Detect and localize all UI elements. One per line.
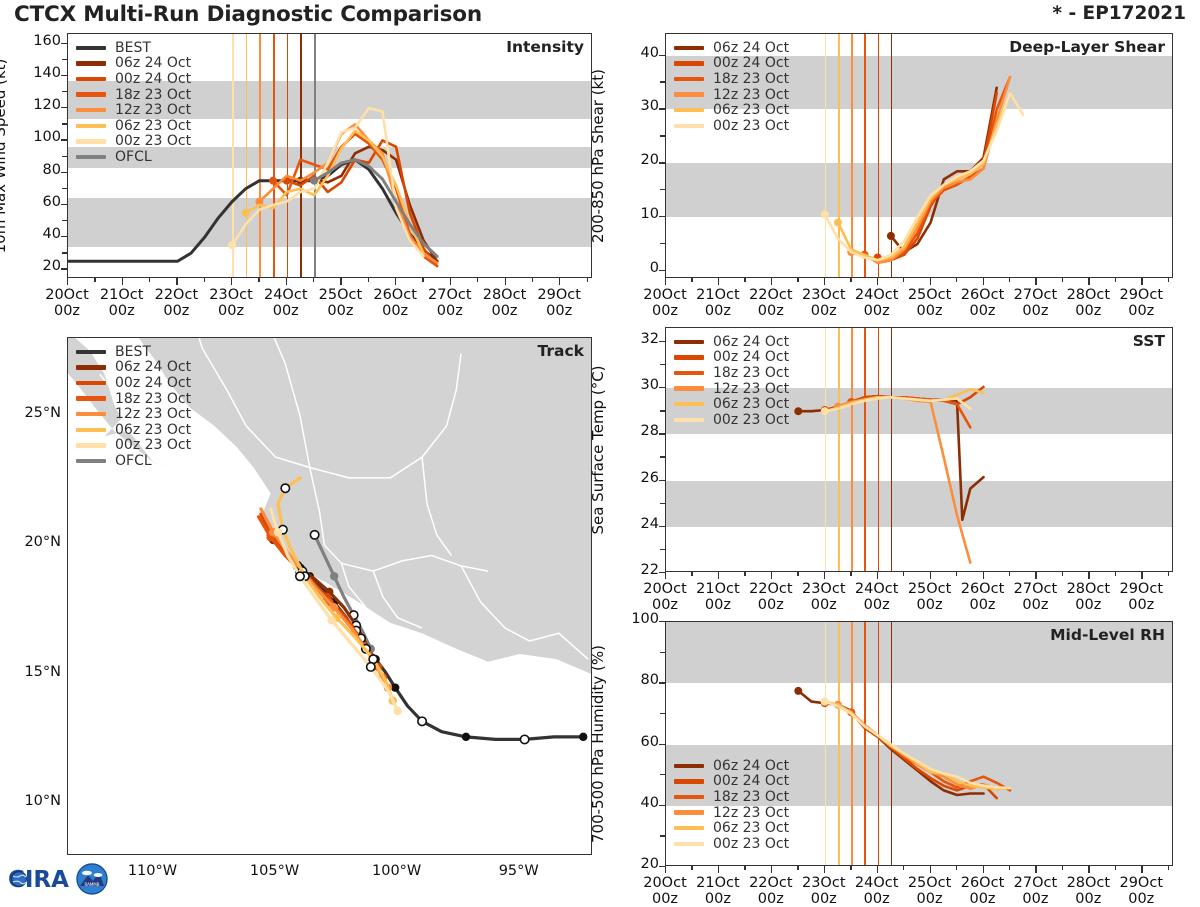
- rh-xtick-minor-5: [956, 866, 957, 870]
- sst-xtickmark-3: [824, 572, 825, 579]
- shear-line-run_18z23: [864, 77, 1010, 263]
- track-marker-best-open: [418, 717, 426, 725]
- xtick-hour: 00z: [811, 303, 837, 319]
- legend-label-run_06z23: 06z 23 Oct: [115, 422, 191, 438]
- sst-ytickmark-24: [659, 526, 666, 527]
- xtick-day: 27Oct: [428, 287, 472, 303]
- shear-ytick-minor: [660, 81, 665, 82]
- intensity-xtickmark-6: [395, 278, 396, 285]
- sst-xtickmark-4: [877, 572, 878, 579]
- legend-label-run_00z24: 00z 24 Oct: [115, 71, 191, 87]
- intensity-ytick-minor: [62, 59, 67, 60]
- legend-swatch-run_00z24: [674, 355, 704, 359]
- intensity-xtick-minor-3: [258, 278, 259, 282]
- rh-xtick-minor-8: [1115, 866, 1116, 870]
- legend-swatch-run_00z24: [76, 77, 106, 81]
- legend-swatch-run_12z23: [674, 92, 704, 96]
- intensity-ytickmark-60: [61, 204, 68, 205]
- legend-swatch-best: [76, 350, 106, 354]
- intensity-init-marker-run_00z23: [228, 241, 236, 249]
- legend-label-run_06z24: 06z 24 Oct: [713, 40, 789, 56]
- intensity-xtick-minor-1: [149, 278, 150, 282]
- track-marker-best-filled: [462, 733, 470, 741]
- legend-swatch-run_06z24: [674, 340, 704, 344]
- intensity-ytickmark-40: [61, 236, 68, 237]
- legend-label-best: BEST: [115, 344, 151, 360]
- rh-xtick-minor-0: [691, 866, 692, 870]
- legend-item-run_00z23: 00z 23 Oct: [674, 412, 789, 428]
- legend-item-run_18z23: 18z 23 Oct: [674, 71, 789, 87]
- track-lon-tick-2: 100°W: [357, 863, 437, 879]
- legend-item-run_06z24: 06z 24 Oct: [674, 40, 789, 56]
- xtick-hour: 00z: [491, 303, 517, 319]
- sst-init-marker-run_00z23: [821, 407, 829, 415]
- shear-xtickmark-8: [1088, 278, 1089, 285]
- rh-xtickmark-9: [1141, 866, 1142, 873]
- sst-xtickmark-7: [1035, 572, 1036, 579]
- rh-ytick-40: 40: [621, 795, 659, 811]
- legend-label-run_18z23: 18z 23 Oct: [713, 365, 789, 381]
- rh-xtick-minor-6: [1009, 866, 1010, 870]
- rh-xtick-minor-3: [850, 866, 851, 870]
- sst-ytick-minor: [660, 549, 665, 550]
- shear-ytickmark-40: [659, 55, 666, 56]
- legend-item-best: BEST: [76, 344, 191, 360]
- legend-swatch-run_06z23: [76, 124, 106, 128]
- rh-ytick-minor: [660, 713, 665, 714]
- xtick-hour: 00z: [811, 597, 837, 613]
- shear-xtickmark-4: [877, 278, 878, 285]
- shear-xtickmark-0: [665, 278, 666, 285]
- rh-xtickmark-7: [1035, 866, 1036, 873]
- rh-xtickmark-5: [930, 866, 931, 873]
- shear-legend: 06z 24 Oct00z 24 Oct18z 23 Oct12z 23 Oct…: [674, 40, 789, 134]
- xtick-hour: 00z: [382, 303, 408, 319]
- legend-item-ofcl: OFCL: [76, 149, 191, 165]
- legend-swatch-run_06z24: [76, 61, 106, 65]
- intensity-ytickmark-160: [61, 43, 68, 44]
- shear-ytick-0: 0: [621, 260, 659, 276]
- track-marker-run_06z23-open: [281, 484, 289, 492]
- shear-ytickmark-30: [659, 108, 666, 109]
- shear-xtickmark-7: [1035, 278, 1036, 285]
- shear-xtickmark-5: [930, 278, 931, 285]
- sst-init-marker-run_06z24: [794, 407, 802, 415]
- legend-swatch-run_06z24: [674, 764, 704, 768]
- legend-label-run_00z23: 00z 23 Oct: [713, 118, 789, 134]
- legend-item-run_00z24: 00z 24 Oct: [76, 375, 191, 391]
- sst-xtickmark-6: [983, 572, 984, 579]
- legend-item-run_06z23: 06z 23 Oct: [674, 396, 789, 412]
- xtick-hour: 00z: [1022, 303, 1048, 319]
- track-lon-tick-1: 105°W: [235, 863, 315, 879]
- intensity-xtickmark-4: [286, 278, 287, 285]
- sst-ytick-minor: [660, 410, 665, 411]
- intensity-ytick-160: 160: [23, 33, 61, 49]
- xtick-hour: 00z: [864, 303, 890, 319]
- rh-xtickmark-2: [771, 866, 772, 873]
- intensity-init-marker-run_18z23: [269, 177, 277, 185]
- shear-xtickmark-2: [771, 278, 772, 285]
- sst-ytick-minor: [660, 364, 665, 365]
- sst-xtickmark-8: [1088, 572, 1089, 579]
- legend-label-run_06z24: 06z 24 Oct: [713, 334, 789, 350]
- track-lat-tick-10: 10°N: [7, 793, 61, 809]
- legend-swatch-run_12z23: [76, 412, 106, 416]
- intensity-ytick-60: 60: [23, 194, 61, 210]
- intensity-xtickmark-1: [122, 278, 123, 285]
- intensity-ytickmark-100: [61, 139, 68, 140]
- legend-swatch-run_00z24: [674, 779, 704, 783]
- xtick-hour: 00z: [758, 597, 784, 613]
- shear-ytickmark-0: [659, 270, 666, 271]
- legend-swatch-best: [76, 46, 106, 50]
- legend-item-run_18z23: 18z 23 Oct: [674, 365, 789, 381]
- legend-label-run_12z23: 12z 23 Oct: [713, 381, 789, 397]
- intensity-ytick-minor: [62, 220, 67, 221]
- intensity-ytick-120: 120: [23, 97, 61, 113]
- intensity-ytick-minor: [62, 188, 67, 189]
- rh-xtickmark-8: [1088, 866, 1089, 873]
- shear-xtickmark-6: [983, 278, 984, 285]
- legend-item-run_18z23: 18z 23 Oct: [76, 87, 191, 103]
- rh-ytickmark-80: [659, 682, 666, 683]
- track-lat-tick-25: 25°N: [7, 405, 61, 421]
- legend-item-run_12z23: 12z 23 Oct: [674, 381, 789, 397]
- rh-xtick-minor-7: [1062, 866, 1063, 870]
- intensity-ytickmark-20: [61, 268, 68, 269]
- legend-swatch-ofcl: [76, 155, 106, 159]
- track-legend: BEST06z 24 Oct00z 24 Oct18z 23 Oct12z 23…: [76, 344, 191, 469]
- legend-label-run_00z24: 00z 24 Oct: [713, 55, 789, 71]
- sst-xtickmark-0: [665, 572, 666, 579]
- shear-panel-title: Deep-Layer Shear: [1009, 38, 1165, 56]
- rh-ytick-minor: [660, 652, 665, 653]
- xtick-day: 23Oct: [209, 287, 253, 303]
- rh-ytick-20: 20: [621, 856, 659, 872]
- sst-y-axis-label: Sea Surface Temp (°C): [589, 365, 607, 534]
- xtick-hour: 00z: [705, 891, 731, 907]
- legend-label-run_00z23: 00z 23 Oct: [713, 412, 789, 428]
- intensity-xtick-minor-0: [94, 278, 95, 282]
- legend-swatch-run_06z24: [674, 46, 704, 50]
- legend-swatch-run_00z23: [76, 139, 106, 143]
- shear-xtickmark-9: [1141, 278, 1142, 285]
- xtick-day: 29Oct: [1119, 287, 1163, 303]
- legend-label-run_12z23: 12z 23 Oct: [115, 406, 191, 422]
- intensity-legend: BEST06z 24 Oct00z 24 Oct18z 23 Oct12z 23…: [76, 40, 191, 165]
- shear-y-axis-label: 200-850 hPa Shear (kt): [589, 69, 607, 243]
- rh-ytickmark-100: [659, 621, 666, 622]
- rh-xtick-minor-9: [1168, 866, 1169, 870]
- xtick-hour: 00z: [1128, 891, 1154, 907]
- sst-ytickmark-26: [659, 480, 666, 481]
- xtick-day: 29Oct: [1119, 875, 1163, 891]
- rh-ytick-100: 100: [621, 611, 659, 627]
- shear-xtickmark-1: [718, 278, 719, 285]
- track-marker-run_00z23-filled: [328, 616, 336, 624]
- legend-label-run_12z23: 12z 23 Oct: [115, 102, 191, 118]
- shear-xtick-minor-3: [850, 278, 851, 282]
- shear-xtick-minor-6: [1009, 278, 1010, 282]
- rh-ytickmark-40: [659, 805, 666, 806]
- shear-ytick-minor: [660, 135, 665, 136]
- xtick-hour: 00z: [54, 303, 80, 319]
- rh-ytick-80: 80: [621, 672, 659, 688]
- intensity-ytick-80: 80: [23, 162, 61, 178]
- legend-swatch-run_00z23: [76, 443, 106, 447]
- sst-xtick-minor-7: [1062, 572, 1063, 576]
- sst-legend: 06z 24 Oct00z 24 Oct18z 23 Oct12z 23 Oct…: [674, 334, 789, 428]
- intensity-xtickmark-2: [176, 278, 177, 285]
- shear-line-run_12z23: [851, 77, 1010, 263]
- legend-item-run_06z24: 06z 24 Oct: [76, 360, 191, 376]
- legend-item-ofcl: OFCL: [76, 453, 191, 469]
- shear-xtick-minor-9: [1168, 278, 1169, 282]
- legend-label-run_00z23: 00z 23 Oct: [713, 836, 789, 852]
- intensity-ytick-minor: [62, 156, 67, 157]
- xtick-hour: 00z: [917, 891, 943, 907]
- sst-xtick-minor-8: [1115, 572, 1116, 576]
- track-marker-run_00z23-open: [296, 572, 304, 580]
- intensity-ytick-100: 100: [23, 129, 61, 145]
- intensity-panel-title: Intensity: [506, 38, 584, 56]
- legend-label-run_06z23: 06z 23 Oct: [713, 102, 789, 118]
- rh-xtickmark-4: [877, 866, 878, 873]
- legend-label-run_18z23: 18z 23 Oct: [713, 789, 789, 805]
- shear-ytick-30: 30: [621, 98, 659, 114]
- xtick-hour: 00z: [1128, 303, 1154, 319]
- shear-xtick-minor-8: [1115, 278, 1116, 282]
- legend-label-run_18z23: 18z 23 Oct: [115, 87, 191, 103]
- xtick-hour: 00z: [917, 303, 943, 319]
- xtick-hour: 00z: [109, 303, 135, 319]
- legend-swatch-run_06z23: [674, 108, 704, 112]
- shear-ytick-10: 10: [621, 206, 659, 222]
- legend-swatch-run_06z23: [674, 826, 704, 830]
- legend-swatch-run_12z23: [674, 386, 704, 390]
- xtick-hour: 00z: [917, 597, 943, 613]
- legend-item-run_12z23: 12z 23 Oct: [674, 805, 789, 821]
- legend-label-run_00z24: 00z 24 Oct: [115, 375, 191, 391]
- legend-item-run_12z23: 12z 23 Oct: [674, 87, 789, 103]
- xtick-hour: 00z: [969, 891, 995, 907]
- sst-ytick-26: 26: [621, 470, 659, 486]
- intensity-ytick-minor: [62, 91, 67, 92]
- legend-label-best: BEST: [115, 40, 151, 56]
- sst-xtick-minor-3: [850, 572, 851, 576]
- svg-text:RAMMB: RAMMB: [85, 882, 100, 887]
- legend-swatch-ofcl: [76, 459, 106, 463]
- xtick-hour: 00z: [1022, 891, 1048, 907]
- shear-xtick-minor-5: [956, 278, 957, 282]
- sst-xtick-minor-0: [691, 572, 692, 576]
- xtick-day: 25Oct: [319, 287, 363, 303]
- xtick-hour: 00z: [327, 303, 353, 319]
- legend-item-run_00z23: 00z 23 Oct: [674, 836, 789, 852]
- legend-swatch-run_18z23: [76, 92, 106, 96]
- legend-label-run_06z24: 06z 24 Oct: [115, 359, 191, 375]
- xtick-day: 26Oct: [373, 287, 417, 303]
- sst-ytick-30: 30: [621, 377, 659, 393]
- intensity-ytick-minor: [62, 123, 67, 124]
- rh-line-run_00z23: [825, 702, 1010, 788]
- legend-item-run_06z24: 06z 24 Oct: [674, 334, 789, 350]
- rh-xtickmark-1: [718, 866, 719, 873]
- intensity-line-best: [68, 160, 437, 262]
- sst-ytickmark-30: [659, 387, 666, 388]
- legend-label-run_00z24: 00z 24 Oct: [713, 773, 789, 789]
- track-panel-title: Track: [538, 342, 584, 360]
- intensity-init-marker-run_06z23: [242, 209, 250, 217]
- intensity-ytickmark-120: [61, 107, 68, 108]
- sst-xtick-minor-1: [744, 572, 745, 576]
- sst-line-run_18z23: [851, 397, 970, 427]
- shear-ytickmark-20: [659, 162, 666, 163]
- legend-swatch-run_06z23: [674, 402, 704, 406]
- shear-line-run_00z24: [878, 93, 997, 260]
- xtick-hour: 00z: [437, 303, 463, 319]
- intensity-xtick-minor-2: [204, 278, 205, 282]
- intensity-xtick-minor-5: [368, 278, 369, 282]
- rh-legend: 06z 24 Oct00z 24 Oct18z 23 Oct12z 23 Oct…: [674, 758, 789, 852]
- xtick-hour: 00z: [864, 597, 890, 613]
- shear-ytick-minor: [660, 243, 665, 244]
- legend-label-run_06z23: 06z 23 Oct: [115, 118, 191, 134]
- xtick-hour: 00z: [1075, 597, 1101, 613]
- legend-swatch-run_06z24: [76, 365, 106, 369]
- track-lon-tick-3: 95°W: [479, 863, 559, 879]
- track-marker-ofcl-filled: [330, 572, 338, 580]
- shear-ytick-40: 40: [621, 45, 659, 61]
- intensity-xtickmark-9: [559, 278, 560, 285]
- xtick-hour: 00z: [705, 303, 731, 319]
- xtick-hour: 00z: [652, 303, 678, 319]
- legend-label-run_00z23: 00z 23 Oct: [115, 133, 191, 149]
- shear-xtick-minor-4: [903, 278, 904, 282]
- legend-item-run_12z23: 12z 23 Oct: [76, 102, 191, 118]
- legend-item-best: BEST: [76, 40, 191, 56]
- track-marker-ofcl-open: [310, 531, 318, 539]
- legend-swatch-run_00z23: [674, 124, 704, 128]
- legend-label-run_06z24: 06z 24 Oct: [115, 55, 191, 71]
- intensity-ytick-20: 20: [23, 258, 61, 274]
- intensity-xtickmark-8: [505, 278, 506, 285]
- shear-xtick-minor-2: [797, 278, 798, 282]
- track-marker-best-open: [520, 735, 528, 743]
- xtick-hour: 00z: [1022, 597, 1048, 613]
- legend-item-run_06z23: 06z 23 Oct: [674, 102, 789, 118]
- track-marker-run_00z23-filled: [274, 528, 282, 536]
- legend-swatch-run_18z23: [674, 795, 704, 799]
- intensity-ytick-minor: [62, 252, 67, 253]
- xtick-day: 21Oct: [100, 287, 144, 303]
- xtick-day: 20Oct: [45, 287, 89, 303]
- sst-ytick-24: 24: [621, 516, 659, 532]
- sst-ytickmark-32: [659, 341, 666, 342]
- shear-ytickmark-10: [659, 216, 666, 217]
- legend-label-ofcl: OFCL: [115, 149, 152, 165]
- legend-item-run_00z23: 00z 23 Oct: [76, 438, 191, 454]
- xtick-hour: 00z: [218, 303, 244, 319]
- sst-panel-title: SST: [1133, 332, 1165, 350]
- legend-item-run_06z23: 06z 23 Oct: [674, 820, 789, 836]
- intensity-xtick-minor-9: [587, 278, 588, 282]
- legend-swatch-run_00z23: [674, 842, 704, 846]
- storm-id-label: * - EP172021: [1052, 3, 1186, 24]
- intensity-xtickmark-5: [340, 278, 341, 285]
- intensity-xtickmark-7: [450, 278, 451, 285]
- legend-item-run_12z23: 12z 23 Oct: [76, 406, 191, 422]
- xtick-hour: 00z: [1075, 303, 1101, 319]
- rh-xtickmark-0: [665, 866, 666, 873]
- xtick-hour: 00z: [1128, 597, 1154, 613]
- legend-label-run_06z23: 06z 23 Oct: [713, 396, 789, 412]
- legend-swatch-run_00z24: [76, 381, 106, 385]
- shear-ytick-minor: [660, 189, 665, 190]
- legend-item-run_06z24: 06z 24 Oct: [76, 56, 191, 72]
- sst-xtickmark-1: [718, 572, 719, 579]
- legend-item-run_00z24: 00z 24 Oct: [76, 71, 191, 87]
- xtick-hour: 00z: [758, 891, 784, 907]
- legend-swatch-run_12z23: [674, 810, 704, 814]
- track-marker-best-filled: [391, 683, 399, 691]
- intensity-xtick-minor-7: [477, 278, 478, 282]
- legend-item-run_18z23: 18z 23 Oct: [76, 391, 191, 407]
- intensity-ytick-140: 140: [23, 65, 61, 81]
- intensity-y-axis-label: 10m Max Wind Speed (kt): [0, 58, 9, 253]
- legend-label-run_00z23: 00z 23 Oct: [115, 437, 191, 453]
- intensity-ytickmark-140: [61, 75, 68, 76]
- legend-label-run_00z24: 00z 24 Oct: [713, 349, 789, 365]
- rh-xtick-9: 29Oct00z: [1103, 875, 1179, 907]
- shear-xtick-9: 29Oct00z: [1103, 287, 1179, 319]
- sst-xtick-minor-4: [903, 572, 904, 576]
- rh-ytick-minor: [660, 835, 665, 836]
- legend-item-run_00z24: 00z 24 Oct: [674, 350, 789, 366]
- shear-ytick-20: 20: [621, 152, 659, 168]
- legend-label-run_18z23: 18z 23 Oct: [115, 391, 191, 407]
- xtick-hour: 00z: [969, 303, 995, 319]
- xtick-hour: 00z: [273, 303, 299, 319]
- legend-swatch-run_06z23: [76, 428, 106, 432]
- legend-swatch-run_18z23: [76, 396, 106, 400]
- sst-xtickmark-2: [771, 572, 772, 579]
- legend-item-run_18z23: 18z 23 Oct: [674, 789, 789, 805]
- legend-label-run_12z23: 12z 23 Oct: [713, 87, 789, 103]
- xtick-hour: 00z: [546, 303, 572, 319]
- sst-xtickmark-9: [1141, 572, 1142, 579]
- shear-xtick-minor-7: [1062, 278, 1063, 282]
- legend-item-run_00z24: 00z 24 Oct: [674, 56, 789, 72]
- xtick-hour: 00z: [1075, 891, 1101, 907]
- legend-swatch-run_18z23: [674, 77, 704, 81]
- rh-xtick-minor-4: [903, 866, 904, 870]
- track-lat-tick-20: 20°N: [7, 534, 61, 550]
- legend-item-run_06z23: 06z 23 Oct: [76, 118, 191, 134]
- shear-xtick-minor-0: [691, 278, 692, 282]
- shear-init-marker-run_06z24: [887, 232, 895, 240]
- sst-line-run_12z23: [838, 397, 970, 562]
- intensity-ytickmark-80: [61, 172, 68, 173]
- rh-xtick-minor-1: [744, 866, 745, 870]
- rh-xtick-minor-2: [797, 866, 798, 870]
- legend-item-run_00z24: 00z 24 Oct: [674, 774, 789, 790]
- legend-item-run_06z23: 06z 23 Oct: [76, 422, 191, 438]
- legend-label-run_12z23: 12z 23 Oct: [713, 805, 789, 821]
- legend-item-run_06z24: 06z 24 Oct: [674, 758, 789, 774]
- legend-item-run_00z23: 00z 23 Oct: [76, 134, 191, 150]
